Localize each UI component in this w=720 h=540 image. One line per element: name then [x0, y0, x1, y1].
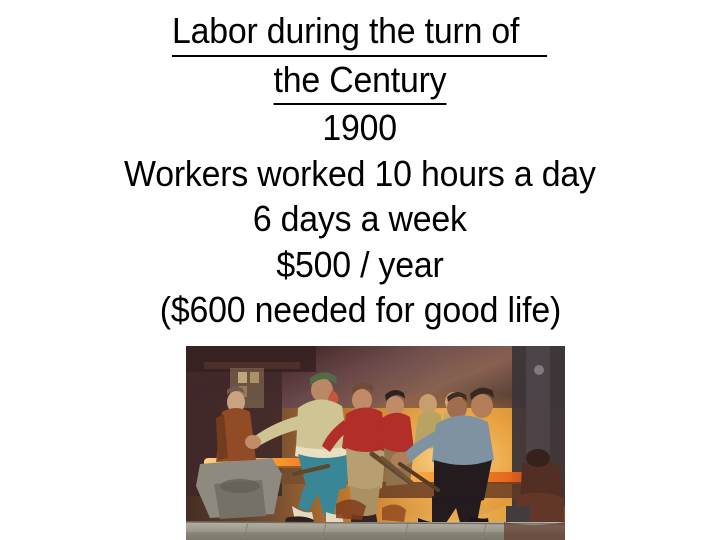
body-line-year: 1900 [0, 105, 720, 151]
body-line-hours: Workers worked 10 hours a day [0, 151, 720, 197]
body-line-wage: $500 / year [0, 242, 720, 288]
body-line-days-text: 6 days a week [253, 196, 467, 242]
title-line-2: the Century [0, 57, 720, 106]
slide-text-block: Labor during the turn of the Century 190… [0, 8, 720, 333]
body-line-needed-text: ($600 needed for good life) [159, 287, 560, 333]
body-line-wage-text: $500 / year [276, 242, 443, 288]
body-line-needed: ($600 needed for good life) [0, 287, 720, 333]
body-line-days: 6 days a week [0, 196, 720, 242]
body-line-year-text: 1900 [323, 105, 398, 151]
painting-artwork [186, 346, 565, 540]
body-line-hours-text: Workers worked 10 hours a day [124, 151, 596, 197]
title-line-1: Labor during the turn of [0, 8, 720, 57]
foundry-workers-painting [186, 346, 565, 540]
title-line-2-text: the Century [274, 57, 447, 106]
slide-canvas: Labor during the turn of the Century 190… [0, 0, 720, 540]
title-line-1-text: Labor during the turn of [172, 8, 548, 57]
